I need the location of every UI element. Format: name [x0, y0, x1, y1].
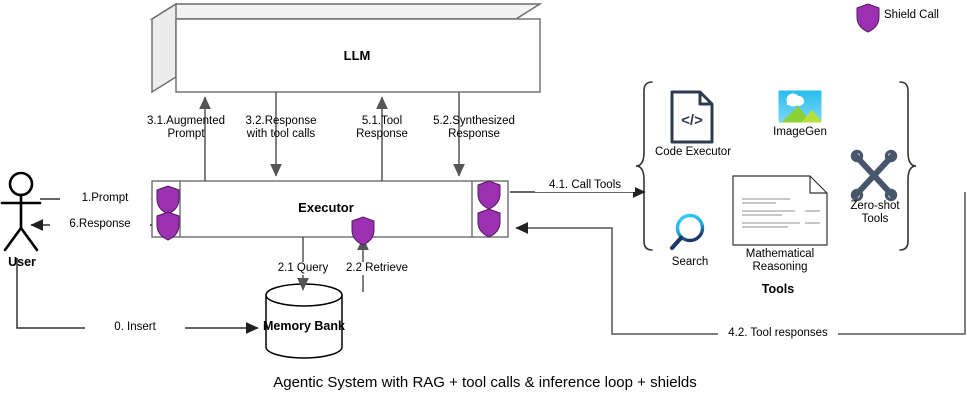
llm-label: LLM: [277, 49, 437, 62]
tool-label-mathematical-reasoning: Mathematical Reasoning: [730, 248, 830, 274]
image-icon: [778, 90, 824, 124]
edge-label-augmented-prompt-line2: Prompt: [140, 128, 232, 141]
diagram-caption: Agentic System with RAG + tool calls & i…: [0, 374, 970, 391]
tool-label-zero-shot-tools: Zero-shot Tools: [840, 200, 910, 226]
shield-icon: [352, 217, 374, 245]
tools-group-label: Tools: [728, 283, 828, 296]
tool-label-search: Search: [660, 256, 720, 269]
edge-label-retrieve: 2.2 Retrieve: [332, 262, 422, 275]
tool-label-code-executor: Code Executor: [650, 146, 736, 159]
diagram-canvas: </>: [0, 0, 970, 411]
formula-document-icon: [733, 176, 827, 245]
code-document-icon: </>: [672, 92, 712, 142]
edge-label-call-tools: 4.1. Call Tools: [535, 179, 635, 192]
shield-icon-legend: [857, 4, 879, 32]
edge-label-response: 6.Response: [50, 218, 150, 231]
edge-label-synthesized-line2: Response: [424, 128, 524, 141]
edge-label-response-tool-calls-line1: 3.2.Response: [232, 115, 330, 128]
edge-label-augmented-prompt-line1: 3.1.Augmented: [140, 115, 232, 128]
edge-label-synthesized-line1: 5.2.Synthesized: [424, 115, 524, 128]
svg-text:</>: </>: [681, 112, 703, 129]
legend-shield-label: Shield Call: [884, 9, 964, 22]
edge-label-tool-responses: 4.2. Tool responses: [718, 327, 838, 340]
memory-bank-label: Memory Bank: [254, 320, 354, 333]
executor-label: Executor: [251, 201, 401, 214]
magnifier-icon: [672, 216, 703, 249]
crossed-wrenches-icon: [852, 151, 895, 199]
edge-label-response-tool-calls-line2: with tool calls: [232, 128, 330, 141]
tool-label-imagegen: ImageGen: [763, 126, 837, 139]
edge-insert: [17, 258, 258, 328]
edge-label-insert: 0. Insert: [85, 321, 185, 334]
user-label: User: [0, 256, 44, 269]
user-figure: [2, 173, 40, 250]
edge-label-prompt: 1.Prompt: [60, 192, 150, 205]
edge-label-tool-response-line2: Response: [340, 128, 424, 141]
edge-label-tool-response-line1: 5.1.Tool: [340, 115, 424, 128]
